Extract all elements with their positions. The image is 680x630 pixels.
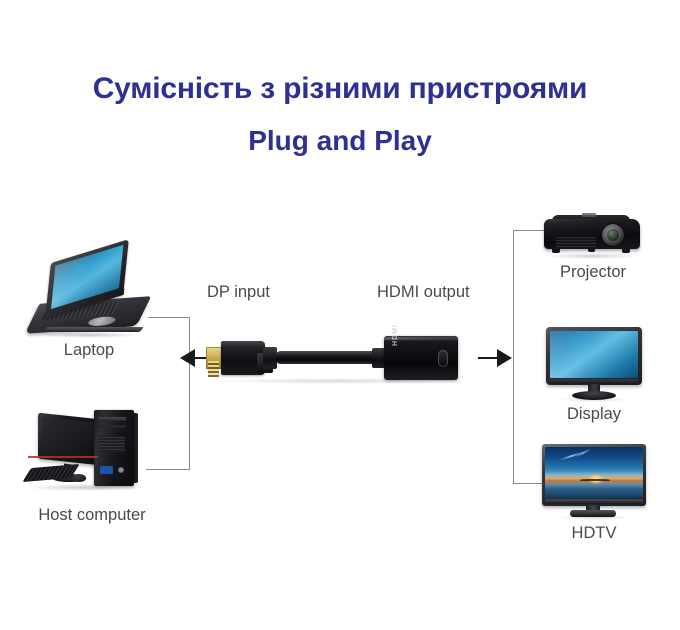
host-computer-label: Host computer: [12, 506, 172, 525]
displayport-pin-contacts: [208, 361, 219, 377]
projector-shadow: [544, 253, 640, 259]
title-block: Сумісність з різними пристроями Plug and…: [0, 72, 680, 157]
bracket-left-spine: [189, 317, 190, 469]
tv-screen: [545, 447, 643, 498]
page-title: Сумісність з різними пристроями: [0, 72, 680, 107]
desktop-tower: [94, 410, 134, 486]
tv-bezel: [542, 444, 646, 506]
dp-to-hdmi-adapter: HDMI: [206, 336, 458, 382]
bracket-left-top-line: [148, 317, 190, 318]
adapter-cable: [275, 351, 379, 364]
tv-bottom-bezel: [545, 499, 643, 504]
laptop-icon: [30, 252, 148, 340]
monitor-shadow: [560, 397, 628, 402]
desktop-drive-slot: [98, 425, 126, 428]
projector-badge: [582, 213, 596, 217]
projector-foot-center: [588, 248, 595, 252]
tv-wallpaper-streak-2: [575, 448, 592, 458]
hdmi-housing-label: HDMI: [392, 322, 399, 346]
laptop-label: Laptop: [30, 341, 148, 360]
adapter-shadow: [216, 378, 456, 384]
monitor-screen: [550, 331, 638, 378]
displayport-connector-body: [221, 341, 265, 375]
arrow-pointing-left-to-sources: [180, 349, 195, 367]
desktop-optical-drive: [98, 417, 126, 421]
projector-body: [544, 219, 640, 249]
desktop-monitor-screen: [42, 417, 96, 459]
product-infographic: Сумісність з різними пристроями Plug and…: [0, 0, 680, 630]
hdmi-female-port: [438, 350, 448, 367]
desktop-front-vent: [99, 436, 125, 452]
monitor-bezel: [546, 327, 642, 385]
tv-shadow: [558, 515, 630, 520]
hdtv-label: HDTV: [540, 524, 648, 543]
display-label: Display: [540, 405, 648, 424]
bracket-right-spine: [513, 230, 514, 483]
projector-label: Projector: [534, 263, 652, 282]
desktop-shadow: [28, 484, 146, 491]
laptop-touchpad: [86, 316, 117, 327]
desktop-accent-stripe: [28, 456, 98, 458]
displayport-pins: [206, 347, 222, 369]
tv-wallpaper-island: [580, 479, 609, 482]
desktop-mouse: [72, 474, 86, 482]
dp-input-label: DP input: [207, 283, 270, 302]
arrow-pointing-right-to-targets: [497, 349, 512, 367]
monitor-icon: [546, 327, 642, 401]
projector-lens: [607, 229, 619, 241]
desktop-computer-icon: [28, 408, 156, 500]
power-button-icon: [118, 467, 124, 473]
hdmi-output-label: HDMI output: [377, 283, 470, 302]
laptop-shadow: [36, 332, 140, 338]
projector-icon: [540, 211, 646, 259]
tv-icon: [542, 444, 646, 520]
page-subtitle: Plug and Play: [0, 125, 680, 157]
desktop-badge: [100, 466, 113, 474]
